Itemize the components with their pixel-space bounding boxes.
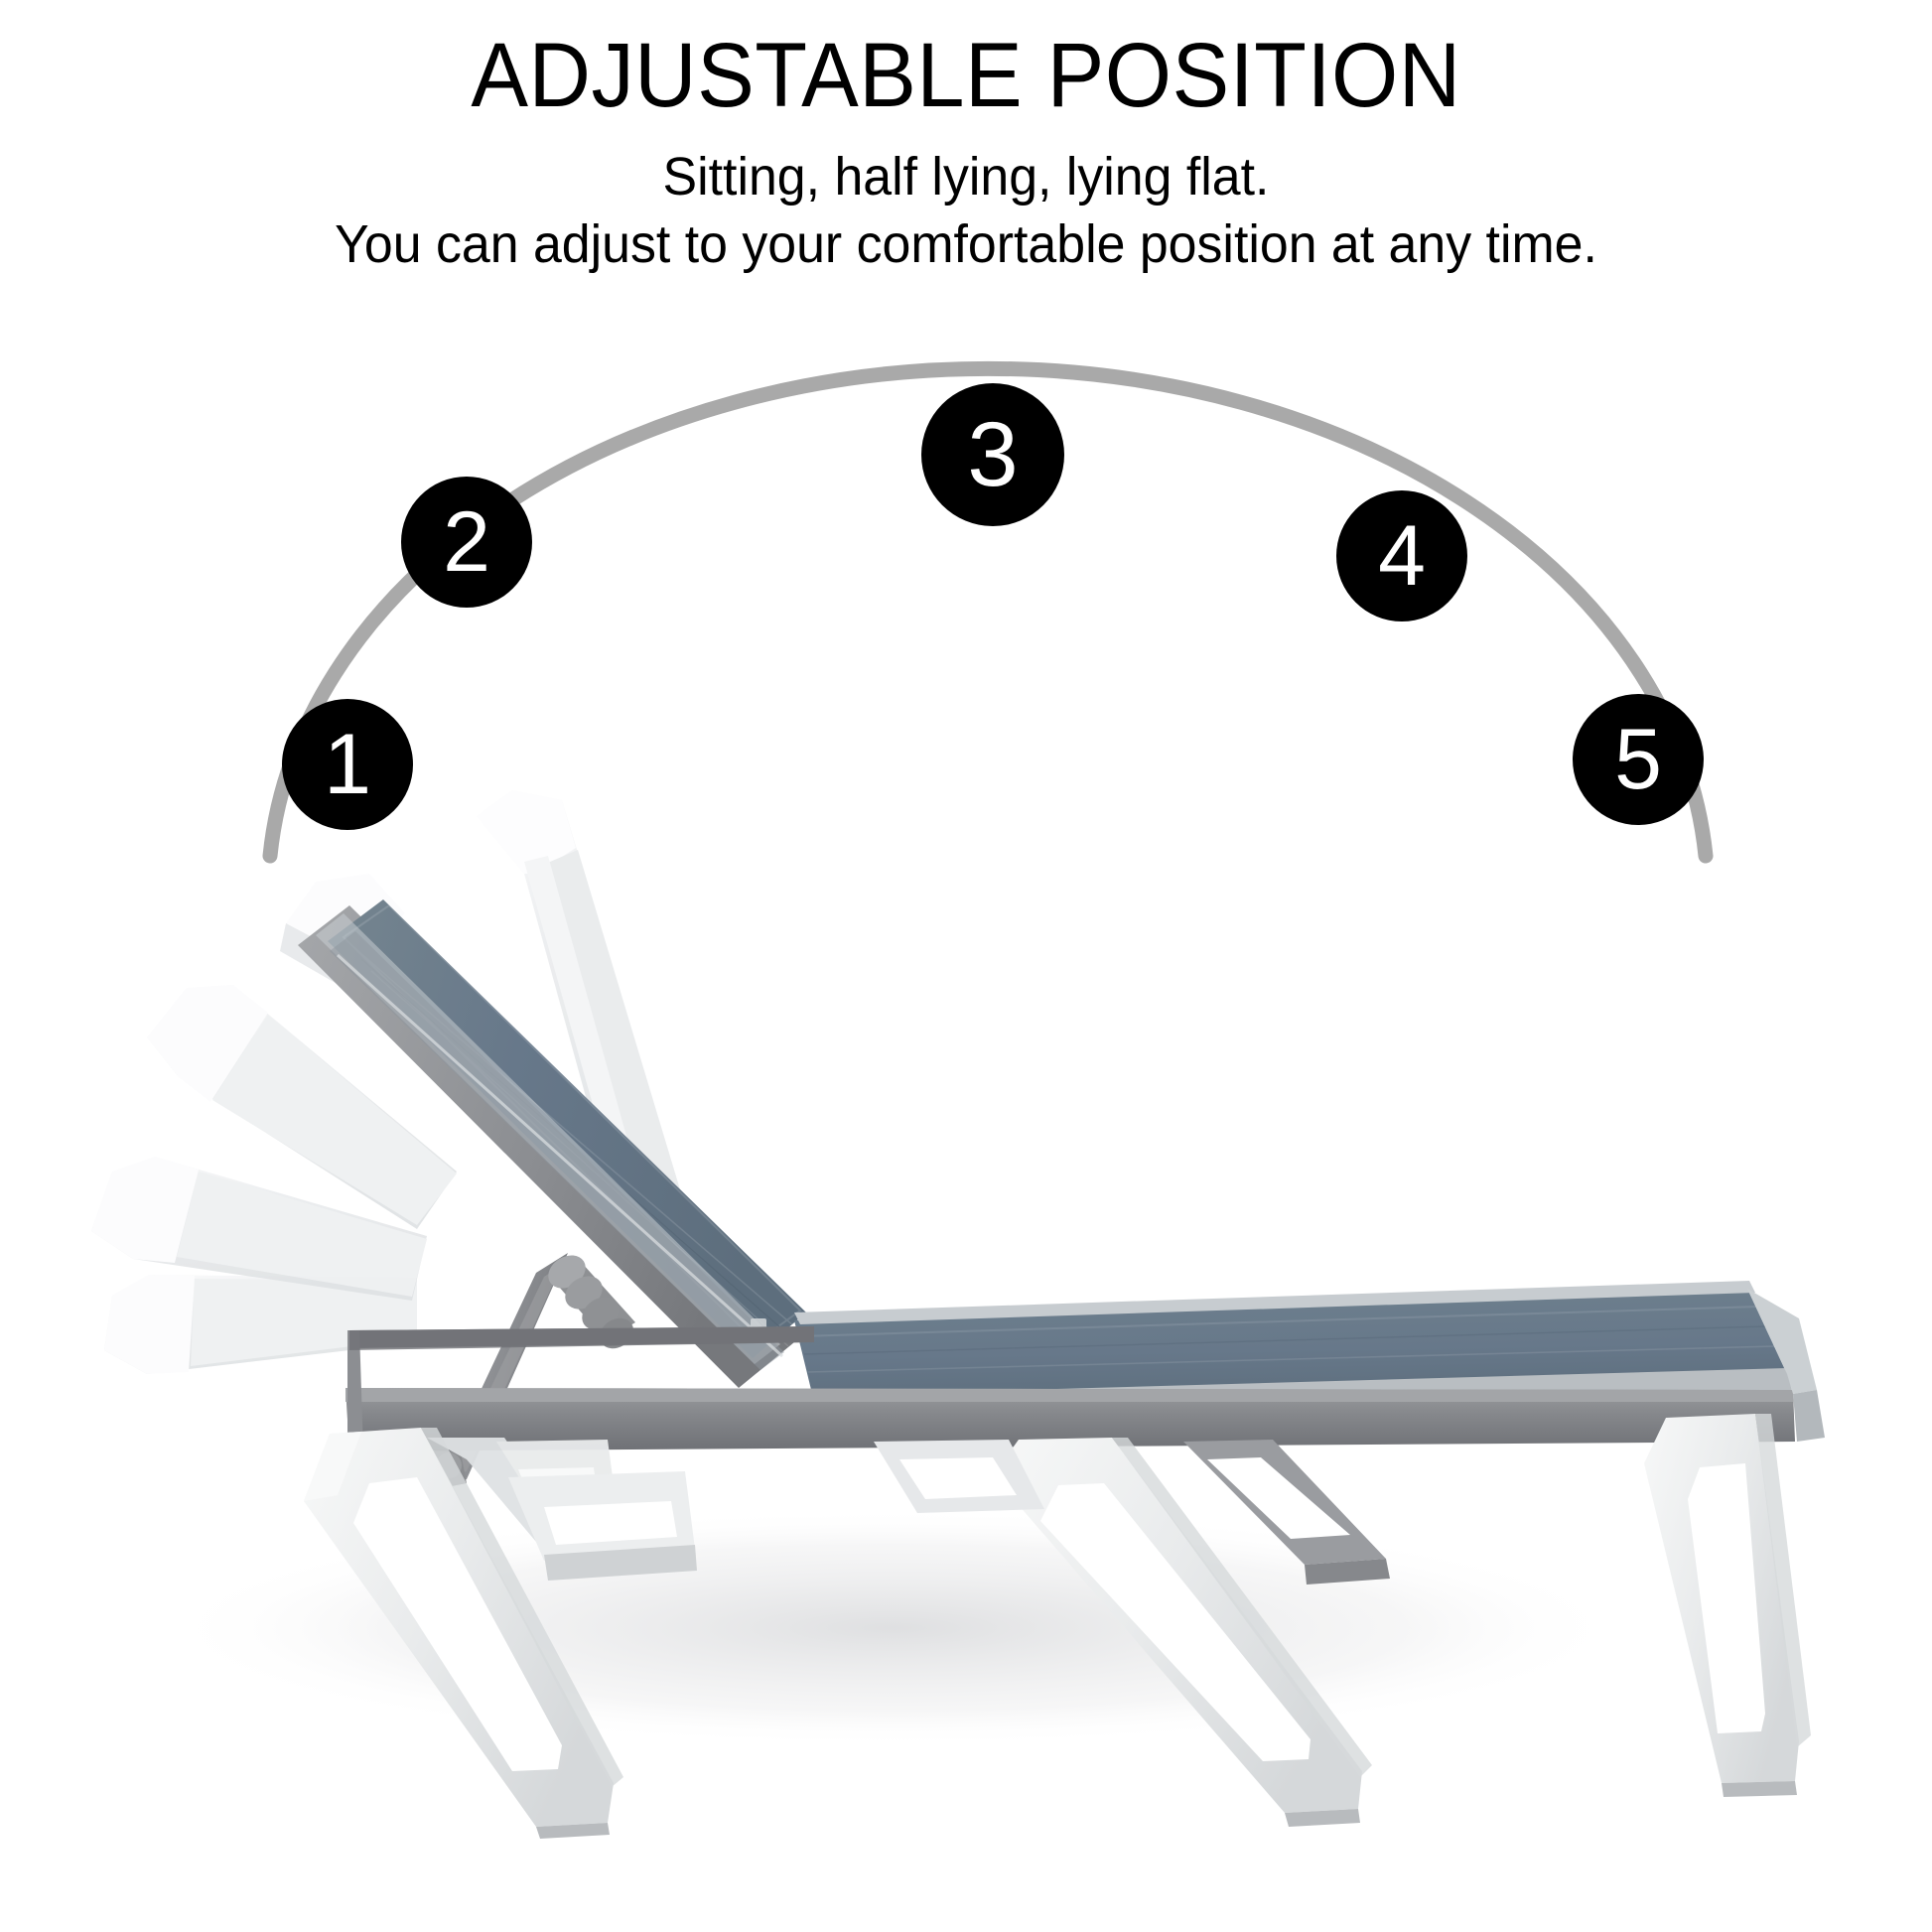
product-illustration [0, 0, 1932, 1932]
seat-panel [345, 1281, 1825, 1451]
infographic-canvas: ADJUSTABLE POSITION Sitting, half lying,… [0, 0, 1932, 1932]
rear-leg-foot-end [1644, 1414, 1811, 1797]
